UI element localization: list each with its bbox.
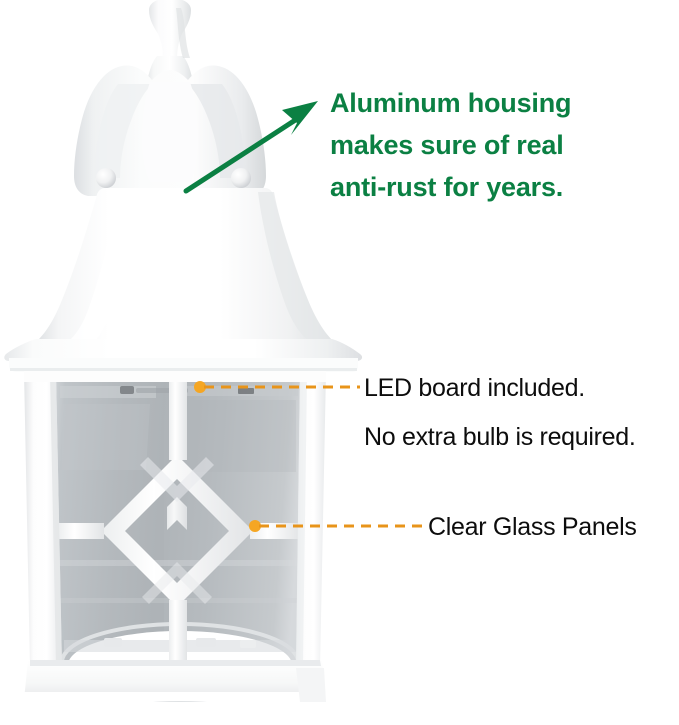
- led-board-callout: LED board included.: [364, 374, 585, 403]
- frame-rail-bottom-shadow: [30, 660, 321, 666]
- frame-right-foot: [296, 668, 326, 702]
- hood-group: [38, 188, 332, 340]
- backplate-center-column: [142, 82, 198, 182]
- muntin-stem-top: [169, 378, 187, 460]
- clear-glass-panels-callout: Clear Glass Panels: [428, 513, 637, 542]
- led-clip-detail-2: [238, 388, 254, 394]
- aluminum-housing-line-3: anti-rust for years.: [330, 166, 571, 208]
- led-clip-detail: [120, 386, 134, 394]
- lantern-body-group: [24, 371, 326, 702]
- mounting-screw-right: [231, 168, 251, 188]
- aluminum-housing-callout: Aluminum housing makes sure of real anti…: [330, 82, 571, 208]
- no-extra-bulb-callout: No extra bulb is required.: [364, 423, 636, 452]
- roof-cap: [4, 339, 362, 361]
- frame-rail-bottom-edge: [24, 692, 326, 701]
- frame-rail-top: [24, 371, 326, 382]
- muntin-arm-right: [250, 523, 300, 539]
- base-tab-3: [240, 640, 256, 648]
- roof-cap-group: [4, 339, 362, 372]
- backplate-group: [74, 65, 266, 196]
- base-tab-2: [196, 638, 216, 647]
- base-tab-1: [104, 638, 122, 647]
- roof-cap-underline: [10, 368, 357, 371]
- mounting-screw-left: [96, 168, 116, 188]
- product-image-canvas: Aluminum housing makes sure of real anti…: [0, 0, 679, 725]
- muntin-arm-left: [58, 523, 104, 539]
- aluminum-housing-line-1: Aluminum housing: [330, 82, 571, 124]
- aluminum-housing-line-2: makes sure of real: [330, 124, 571, 166]
